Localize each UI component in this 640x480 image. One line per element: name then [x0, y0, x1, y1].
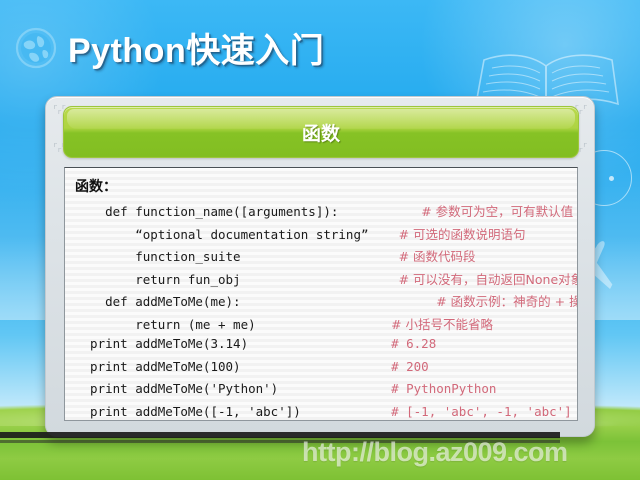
globe-icon	[14, 26, 58, 70]
code-lines: def function_name([arguments]): # 参数可为空，…	[75, 201, 577, 421]
code-source: return fun_obj	[75, 272, 399, 287]
code-comment: # 小括号不能省略	[391, 314, 493, 333]
code-source: return (me + me)	[75, 317, 391, 332]
code-source: print addMeToMe(100)	[75, 359, 391, 374]
code-line: print addMeToMe(100) # 200	[75, 359, 577, 382]
code-line: print addMeToMe([-1, 'abc']) # [-1, 'abc…	[75, 404, 577, 422]
code-source: function_suite	[75, 249, 399, 264]
code-comment: # 200	[391, 359, 429, 374]
code-source: print addMeToMe([-1, 'abc'])	[75, 404, 391, 419]
code-block: 函数： def function_name([arguments]): # 参数…	[64, 167, 578, 421]
code-comment: # 可选的函数说明语句	[399, 224, 526, 243]
content-panel: r r r r r r r r r r r r 函数 函数： def funct…	[45, 96, 595, 437]
code-comment: # [-1, 'abc', -1, 'abc']	[391, 404, 572, 419]
code-line: function_suite # 函数代码段	[75, 246, 577, 269]
code-comment: # 6.28	[391, 336, 436, 351]
code-line: “optional documentation string” # 可选的函数说…	[75, 224, 577, 247]
code-line: def function_name([arguments]): # 参数可为空，…	[75, 201, 577, 224]
code-source: def function_name([arguments]):	[75, 204, 421, 219]
code-source: def addMeToMe(me):	[75, 294, 436, 309]
slide-title-bar: Python快速入门	[0, 8, 640, 70]
code-comment: # 函数示例：神奇的 + 操作	[436, 291, 578, 310]
code-line: return (me + me) # 小括号不能省略	[75, 314, 577, 337]
code-line: def addMeToMe(me): # 函数示例：神奇的 + 操作	[75, 291, 577, 314]
code-line: print addMeToMe('Python') # PythonPython	[75, 381, 577, 404]
code-source: print addMeToMe('Python')	[75, 381, 391, 396]
section-header-bar: 函数	[63, 106, 579, 158]
code-heading: 函数：	[75, 176, 577, 196]
code-comment: # 参数可为空，可有默认值	[421, 201, 573, 220]
section-title: 函数	[302, 119, 340, 146]
code-source: print addMeToMe(3.14)	[75, 336, 391, 351]
code-content: 函数： def function_name([arguments]): # 参数…	[65, 168, 577, 421]
code-line: return fun_obj # 可以没有，自动返回None对象	[75, 269, 577, 292]
code-source: “optional documentation string”	[75, 227, 399, 242]
code-line: print addMeToMe(3.14) # 6.28	[75, 336, 577, 359]
slide-background: Python快速入门 r r r r r r r r r r r r 函数 函数…	[0, 0, 640, 480]
code-comment: # 可以没有，自动返回None对象	[399, 269, 578, 288]
dot-decoration	[609, 176, 614, 181]
code-comment: # 函数代码段	[399, 246, 476, 265]
code-comment: # PythonPython	[391, 381, 496, 396]
watermark-url: http://blog.az009.com	[302, 437, 640, 471]
page-title: Python快速入门	[68, 23, 324, 72]
